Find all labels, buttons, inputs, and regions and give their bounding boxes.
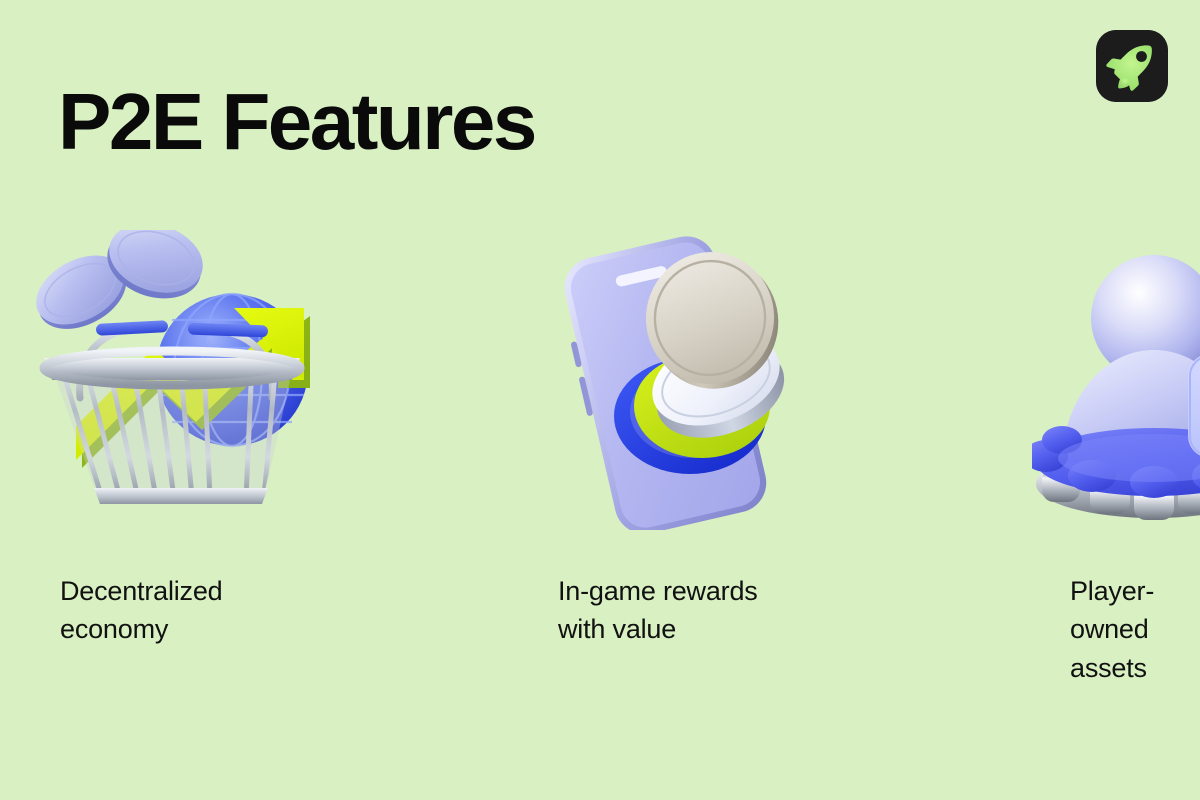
feature-caption: Decentralized economy (60, 572, 360, 649)
feature-caption: In-game rewards with value (558, 572, 800, 649)
feature-caption: Player-owned assets (1070, 572, 1200, 687)
feature-card-player-owned-assets: Player-owned assets (800, 230, 1200, 687)
features-row: Decentralized economy (0, 230, 1200, 687)
poster-canvas: P2E Features (0, 0, 1200, 800)
caption-line-2: with value (558, 610, 800, 648)
illustration-shopping-basket (36, 230, 336, 530)
illustration-smartphone-coins (542, 230, 842, 530)
caption-line-1: Player-owned (1070, 572, 1200, 649)
rocket-icon (1096, 30, 1168, 102)
rocket-logo-badge[interactable] (1096, 30, 1168, 102)
feature-card-decentralized-economy: Decentralized economy (0, 230, 400, 687)
basket-body (44, 351, 300, 504)
settings-card (1188, 354, 1200, 458)
caption-line-1: Decentralized (60, 572, 360, 610)
illustration-player-avatar-settings (1032, 230, 1200, 530)
caption-line-2: economy (60, 610, 360, 648)
caption-line-1: In-game rewards (558, 572, 800, 610)
feature-card-ingame-rewards: In-game rewards with value (400, 230, 800, 687)
caption-line-2: assets (1070, 649, 1200, 687)
gear-base (1032, 426, 1200, 520)
page-title: P2E Features (58, 82, 535, 162)
